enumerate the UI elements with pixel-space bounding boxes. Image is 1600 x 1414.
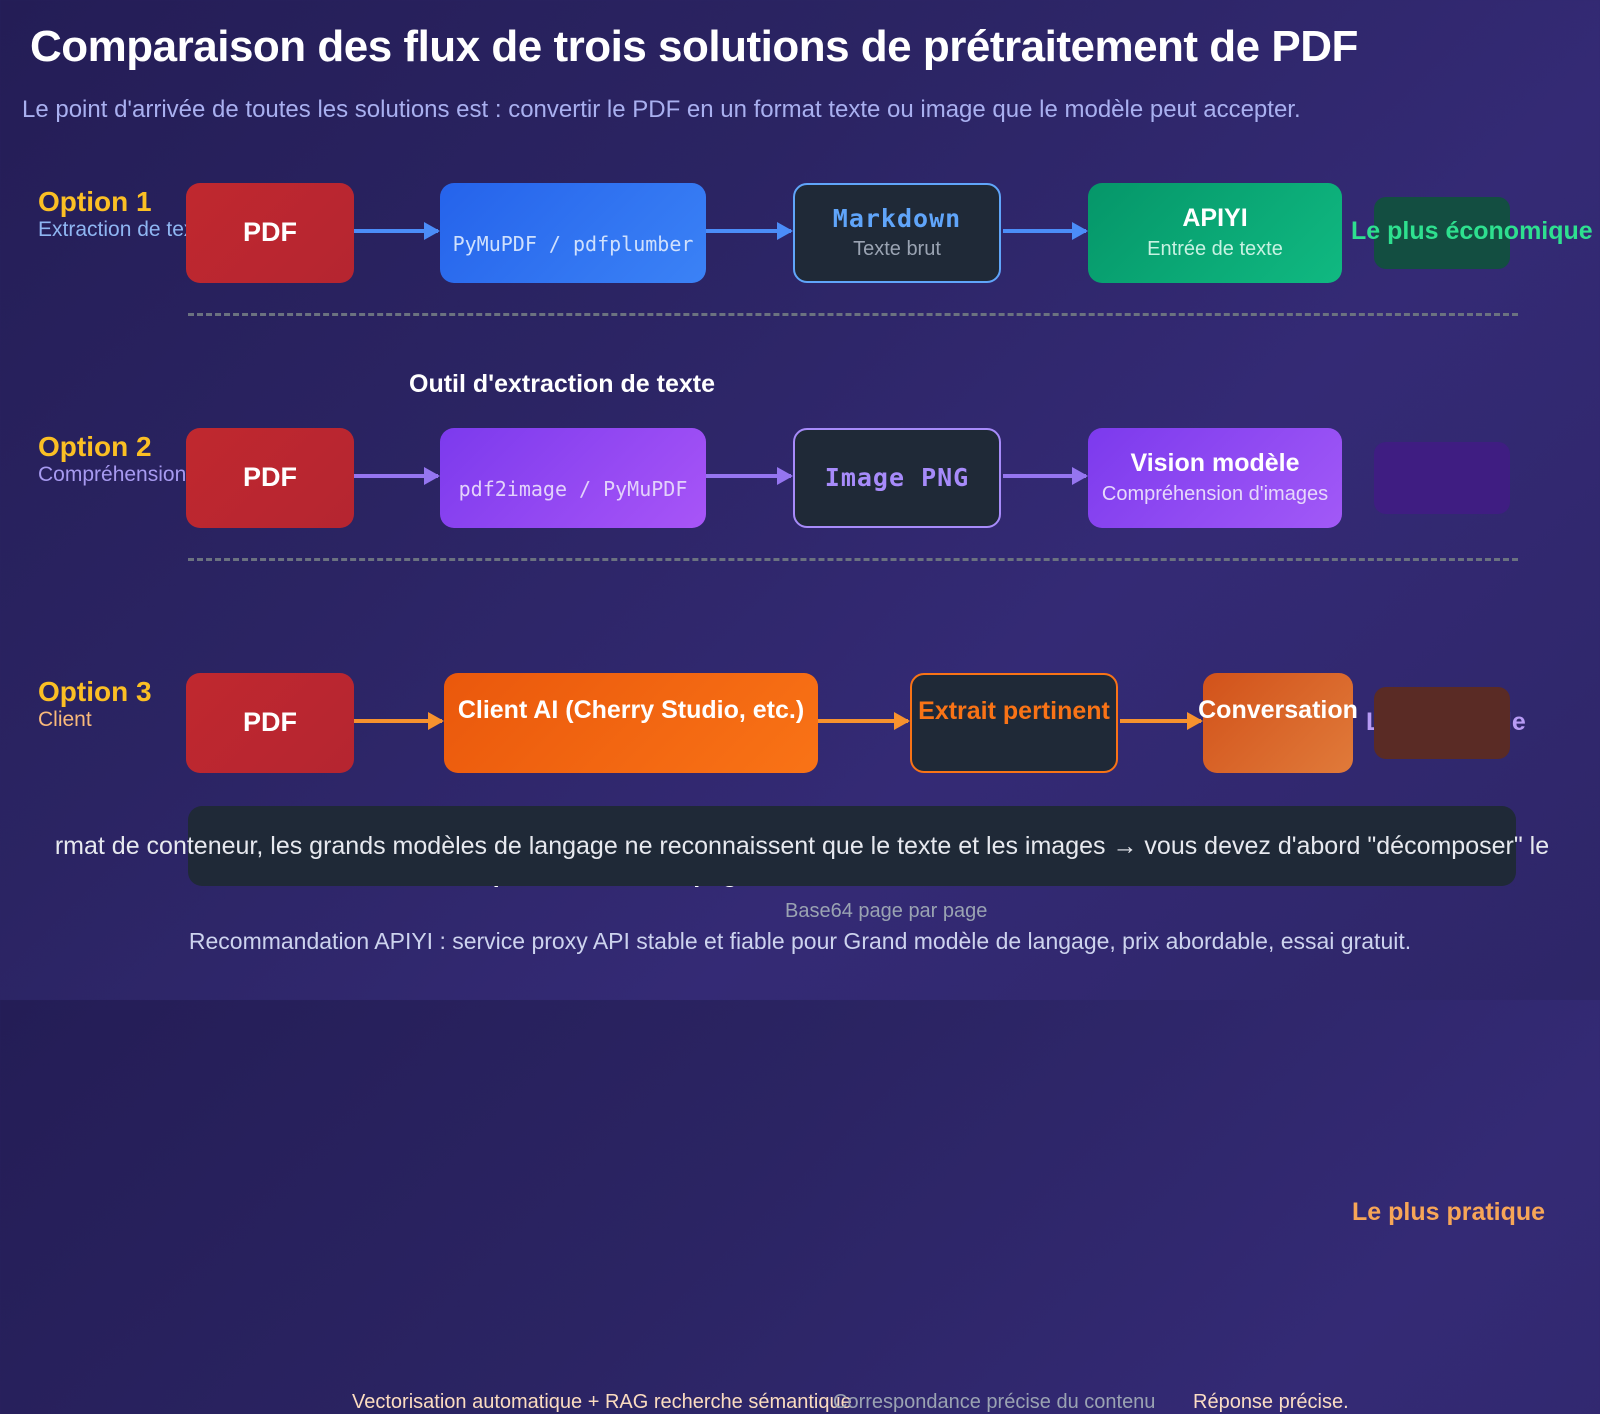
footer-recommendation: Recommandation APIYI : service proxy API… bbox=[0, 928, 1600, 955]
page-subtitle: Le point d'arrivée de toutes les solutio… bbox=[22, 96, 1582, 124]
node-pdf-source-3-title: PDF bbox=[243, 708, 297, 738]
node-conversation-destination[interactable]: Conversation bbox=[1203, 673, 1353, 773]
node-pdf-source-1[interactable]: PDF bbox=[186, 183, 354, 283]
node-png-format-sub: Base64 page par page bbox=[785, 900, 987, 923]
node-pdf-source-1-title: PDF bbox=[243, 218, 297, 248]
row-separator-2 bbox=[188, 558, 1518, 561]
node-apiyi-destination[interactable]: APIYI Entrée de texte bbox=[1088, 183, 1342, 283]
arrow-right-icon-2a bbox=[354, 474, 438, 478]
badge-option-3-label: Le plus pratique bbox=[1352, 1198, 1545, 1227]
page-title: Comparaison des flux de trois solutions … bbox=[30, 22, 1570, 72]
node-vision-model-destination[interactable]: Vision modèle Compréhension d'images bbox=[1088, 428, 1342, 528]
node-vision-model-destination-sub: Compréhension d'images bbox=[1102, 482, 1328, 506]
node-screenshot-tool-sub: pdf2image / PyMuPDF bbox=[459, 477, 688, 501]
node-apiyi-destination-sub: Entrée de texte bbox=[1147, 237, 1283, 261]
node-screenshot-tool[interactable]: pdf2image / PyMuPDF bbox=[440, 428, 706, 528]
node-markdown-format[interactable]: Markdown Texte brut bbox=[793, 183, 1001, 283]
node-markdown-format-title: Markdown bbox=[833, 205, 961, 233]
node-png-format-title: Image PNG bbox=[825, 464, 969, 492]
badge-option-1 bbox=[1374, 197, 1510, 269]
flow-row-option-1: Option 1 Extraction de texte PDF PyMuPDF… bbox=[0, 175, 1600, 290]
node-pdf-source-2[interactable]: PDF bbox=[186, 428, 354, 528]
note-text: rmat de conteneur, les grands modèles de… bbox=[0, 832, 1600, 861]
arrow-right-icon-1a bbox=[354, 229, 438, 233]
node-pdf-source-3[interactable]: PDF bbox=[186, 673, 354, 773]
node-pdf-source-2-title: PDF bbox=[243, 463, 297, 493]
node-relevant-excerpt-title: Extrait pertinent bbox=[918, 698, 1110, 726]
node-ai-client[interactable]: Client AI (Cherry Studio, etc.) bbox=[444, 673, 818, 773]
node-conversation-destination-sub: Réponse précise. bbox=[1193, 1391, 1349, 1414]
arrow-right-icon-3c bbox=[1120, 719, 1201, 723]
flow-row-option-2: Option 2 Compréhension d'image PDF pdf2i… bbox=[0, 420, 1600, 535]
badge-option-3 bbox=[1374, 687, 1510, 759]
flow-row-option-3: Option 3 Client PDF Client AI (Cherry St… bbox=[0, 665, 1600, 780]
arrow-right-icon-3a bbox=[354, 719, 442, 723]
node-ai-client-sub: Vectorisation automatique + RAG recherch… bbox=[352, 1391, 852, 1414]
node-text-extraction-tool-sub: PyMuPDF / pdfplumber bbox=[453, 232, 694, 256]
arrow-right-icon-1c bbox=[1003, 229, 1086, 233]
node-text-extraction-tool-title: Outil d'extraction de texte bbox=[409, 370, 715, 399]
node-apiyi-destination-title: APIYI bbox=[1182, 205, 1247, 233]
node-ai-client-title: Client AI (Cherry Studio, etc.) bbox=[458, 697, 804, 725]
node-text-extraction-tool[interactable]: PyMuPDF / pdfplumber bbox=[440, 183, 706, 283]
node-png-format[interactable]: Image PNG bbox=[793, 428, 1001, 528]
node-relevant-excerpt-sub: Correspondance précise du contenu bbox=[833, 1391, 1155, 1414]
node-relevant-excerpt[interactable]: Extrait pertinent bbox=[910, 673, 1118, 773]
badge-option-2 bbox=[1374, 442, 1510, 514]
node-conversation-destination-title: Conversation bbox=[1198, 697, 1358, 725]
arrow-right-icon-2c bbox=[1003, 474, 1086, 478]
node-vision-model-destination-title: Vision modèle bbox=[1130, 450, 1299, 478]
arrow-right-icon-2b bbox=[706, 474, 791, 478]
diagram-canvas: Comparaison des flux de trois solutions … bbox=[0, 0, 1600, 1000]
arrow-right-icon-1b bbox=[706, 229, 791, 233]
node-markdown-format-sub: Texte brut bbox=[853, 237, 941, 261]
row-separator-1 bbox=[188, 313, 1518, 316]
arrow-right-icon-3b bbox=[818, 719, 908, 723]
